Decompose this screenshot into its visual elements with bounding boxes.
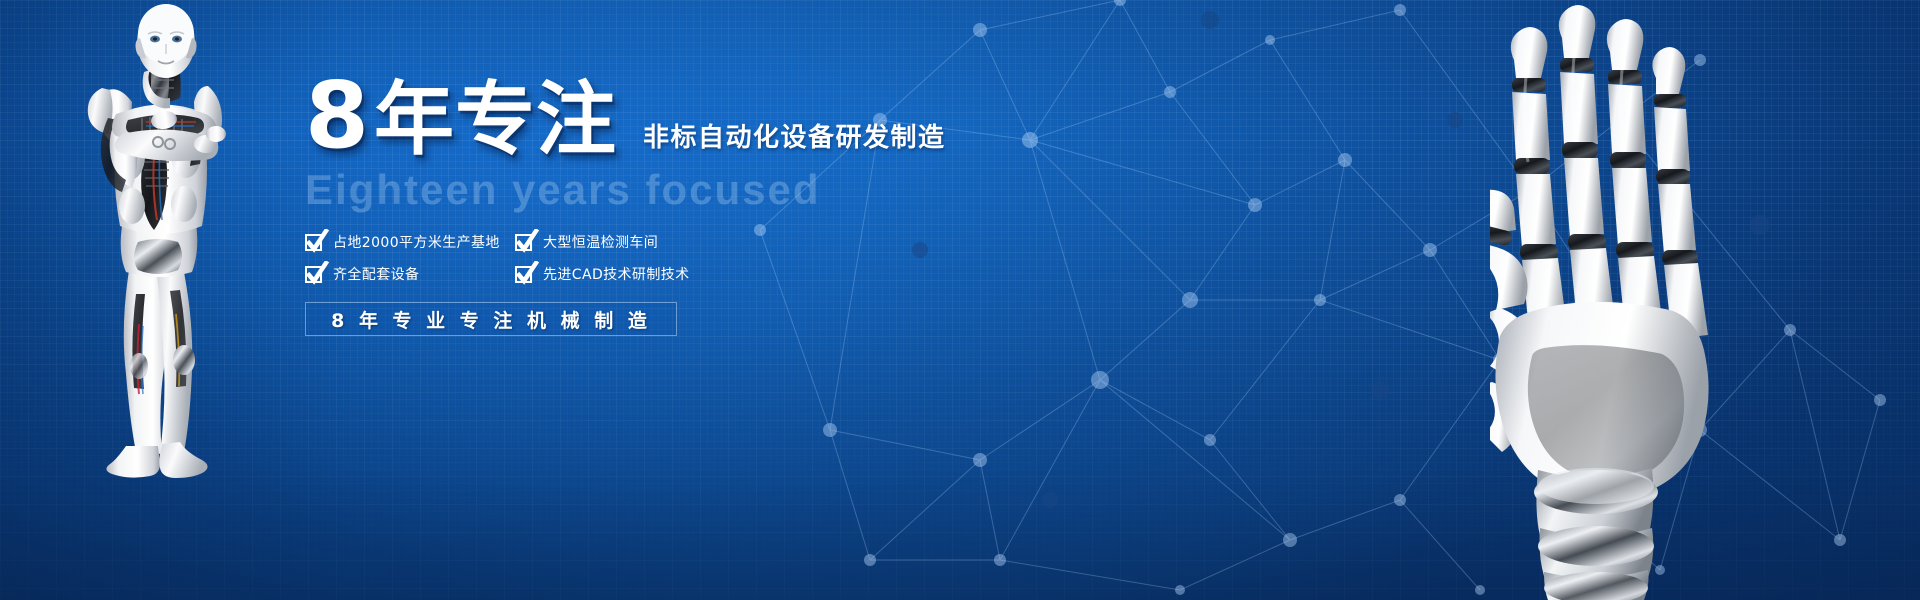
feature-list: 占地2000平方米生产基地 大型恒温检测车间 齐全配套设备 先进CAD技术研制技… [305, 232, 725, 284]
feature-label: 先进CAD技术研制技术 [543, 264, 690, 284]
headline-row: 8年专注 非标自动化设备研发制造 [305, 72, 1085, 162]
headline-number: 8 [305, 62, 374, 169]
slogan-text: 8 年 专 业 专 注 机 械 制 造 [331, 306, 651, 333]
banner-content: 8年专注 非标自动化设备研发制造 Eighteen years focused … [305, 72, 1085, 336]
promo-banner: 8年专注 非标自动化设备研发制造 Eighteen years focused … [0, 0, 1920, 600]
check-icon [305, 266, 322, 283]
headline: 8年专注 [305, 70, 617, 162]
feature-item: 大型恒温检测车间 [515, 232, 725, 252]
check-icon [515, 234, 532, 251]
robotic-hand-figure [1490, 0, 1910, 600]
feature-item: 占地2000平方米生产基地 [305, 232, 515, 252]
headline-text: 年专注 [374, 73, 617, 166]
subheadline: 非标自动化设备研发制造 [643, 117, 946, 162]
feature-item: 先进CAD技术研制技术 [515, 264, 725, 284]
feature-label: 齐全配套设备 [333, 264, 419, 284]
english-tagline: Eighteen years focused [305, 168, 1085, 212]
slogan-box: 8 年 专 业 专 注 机 械 制 造 [305, 302, 677, 336]
humanoid-robot-figure [56, 0, 296, 494]
feature-label: 占地2000平方米生产基地 [333, 232, 500, 252]
feature-label: 大型恒温检测车间 [543, 232, 658, 252]
check-icon [305, 234, 322, 251]
feature-item: 齐全配套设备 [305, 264, 515, 284]
check-icon [515, 266, 532, 283]
